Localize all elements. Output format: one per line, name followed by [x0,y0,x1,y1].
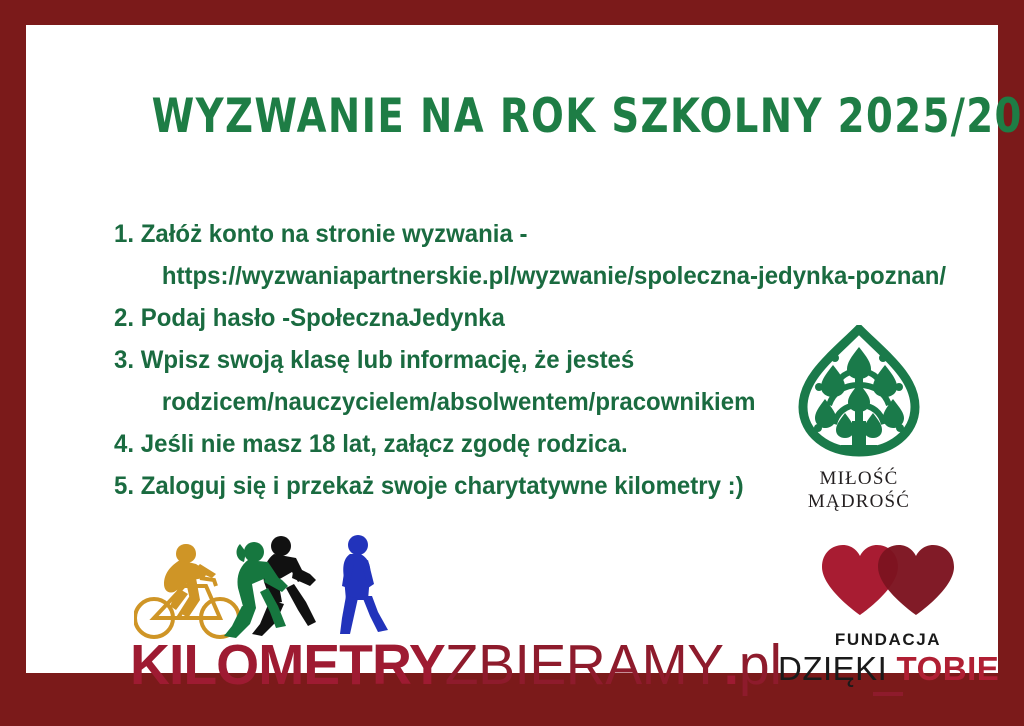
list-item-text: Zaloguj się i przekaż swoje charytatywne… [141,465,748,507]
school-logo-text: MIŁOŚĆ MĄDROŚĆ [774,467,944,513]
kilometryzbieramy-logo[interactable]: KILOMETRYZBIERAMY.pl [130,637,782,694]
list-item-number: 2. [114,297,141,339]
tree-leaf-emblem-icon [789,325,929,465]
challenge-url[interactable]: https://wyzwaniapartnerskie.pl/wyzwanie/… [141,255,946,297]
fundacja-dzieki-tobie-logo: FUNDACJA DZIĘKI TOBIE [778,541,998,696]
list-item-number: 1. [114,213,141,255]
logo-tld: pl [739,633,782,697]
poster-canvas: WYZWANIE NA ROK SZKOLNY 2025/2026 1. Zał… [26,25,998,673]
school-logo-line-2: MĄDROŚĆ [774,490,944,513]
list-item: 4. Jeśli nie masz 18 lat, załącz zgodę r… [114,423,748,465]
fundacja-word: FUNDACJA [778,630,998,650]
activity-figures-illustration [134,530,424,640]
list-item: 3. Wpisz swoją klasę lub informację, że … [114,339,748,423]
list-item-text: Podaj hasło -SpołecznaJedynka [141,297,748,339]
dzieki-tobie-wordmark: DZIĘKI TOBIE [778,651,998,687]
list-item-line: Wpisz swoją klasę lub informację, że jes… [141,346,635,374]
dzieki-word: DZIĘKI [778,650,887,687]
list-item-number: 5. [114,465,141,507]
list-item: 2. Podaj hasło -SpołecznaJedynka [114,297,748,339]
instruction-list: 1. Załóż konto na stronie wyzwania - htt… [114,213,774,507]
page-title: WYZWANIE NA ROK SZKOLNY 2025/2026 [152,93,879,140]
cyclist-silhouette-icon [135,544,239,637]
list-item-line: Załóż konto na stronie wyzwania - [141,220,528,248]
activity-figures [134,530,424,640]
tobie-word: TOBIE [897,650,1000,687]
list-item-number: 4. [114,423,141,465]
list-item-text: Jeśli nie masz 18 lat, załącz zgodę rodz… [141,423,748,465]
list-item-text: Wpisz swoją klasę lub informację, że jes… [141,339,756,423]
list-item: 1. Załóż konto na stronie wyzwania - htt… [114,213,748,297]
logo-dot: . [724,633,739,697]
school-logo-line-1: MIŁOŚĆ [774,467,944,490]
logo-underline-dash [873,692,903,696]
list-item-text: Załóż konto na stronie wyzwania - https:… [141,213,946,297]
school-logo: MIŁOŚĆ MĄDROŚĆ [774,325,944,520]
list-item: 5. Zaloguj się i przekaż swoje charytaty… [114,465,748,507]
list-item-line-continued: rodzicem/nauczycielem/absolwentem/pracow… [141,381,756,423]
zbieramy-word: ZBIERAMY [445,633,724,697]
kilometry-word: KILOMETRY [130,633,445,697]
walker-silhouette-icon [340,535,388,634]
two-hearts-icon [813,541,963,619]
list-item-number: 3. [114,339,141,381]
